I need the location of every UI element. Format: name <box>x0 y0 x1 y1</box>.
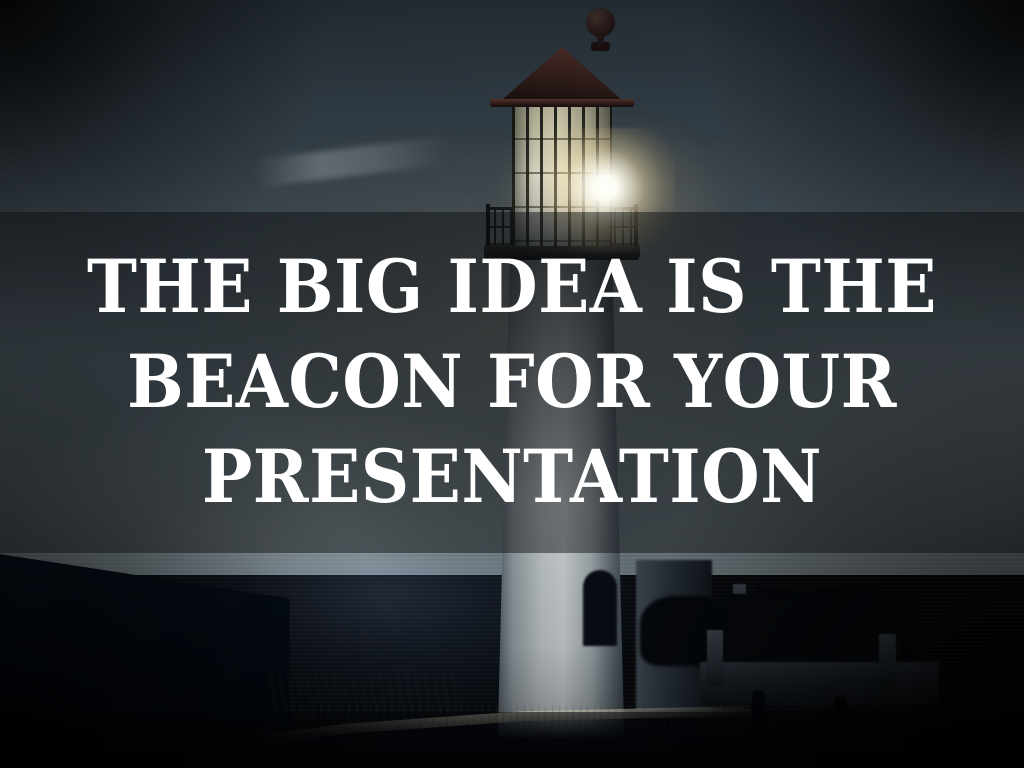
tower-doorway <box>583 570 617 646</box>
headline-line-2: BEACON FOR YOUR <box>87 335 937 430</box>
wall-post-left <box>707 630 723 686</box>
foreground-ground <box>0 712 1024 768</box>
page-title: THE BIG IDEA IS THE BEACON FOR YOUR PRES… <box>87 240 937 525</box>
presentation-slide: THE BIG IDEA IS THE BEACON FOR YOUR PRES… <box>0 0 1024 768</box>
retaining-wall <box>700 662 938 706</box>
text-scrim-band: THE BIG IDEA IS THE BEACON FOR YOUR PRES… <box>0 212 1024 553</box>
lantern-roof-lip <box>490 99 634 107</box>
finial-ball <box>586 8 615 37</box>
headline-line-3: PRESENTATION <box>87 430 937 525</box>
headline-line-1: THE BIG IDEA IS THE <box>87 240 937 335</box>
wall-post-right <box>879 634 896 688</box>
